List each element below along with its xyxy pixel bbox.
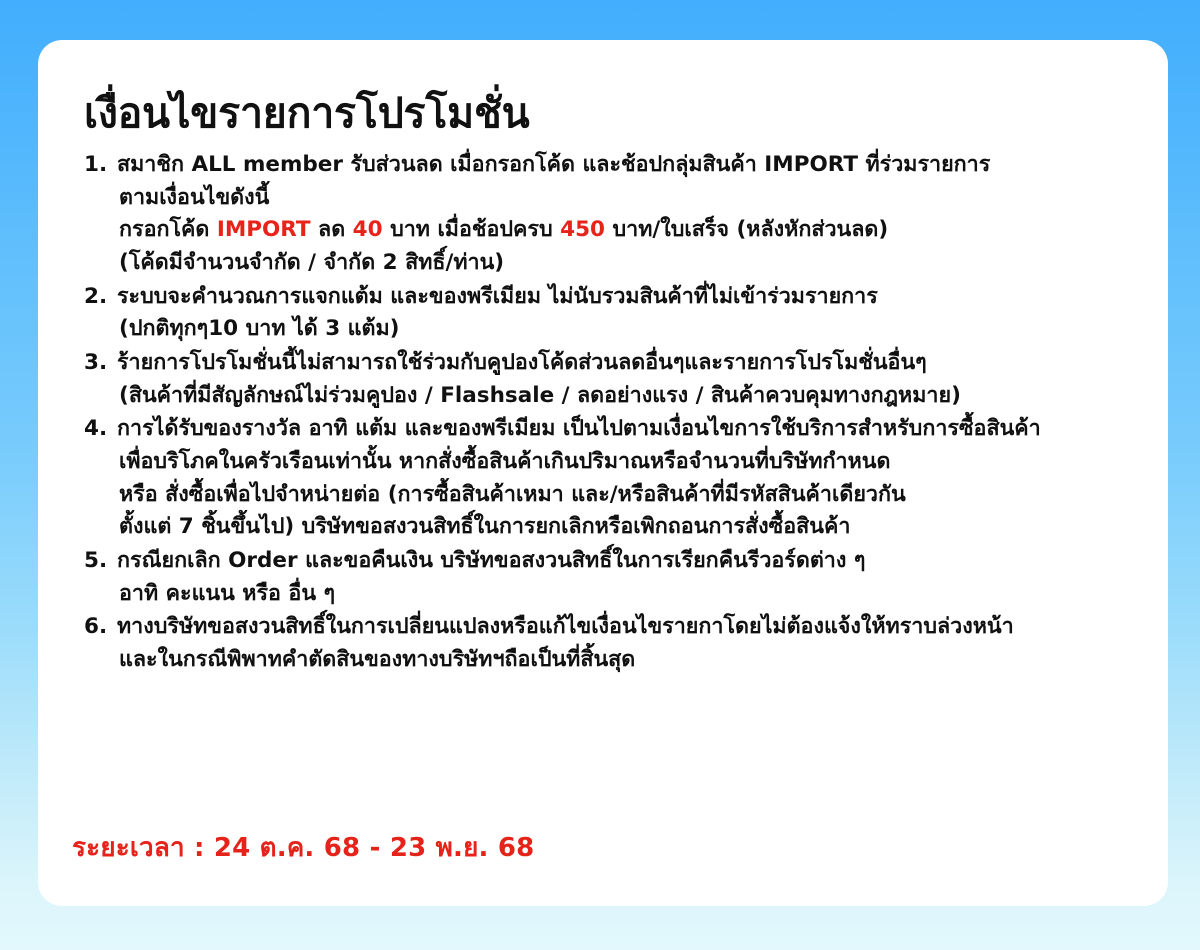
highlighted-value: 450 <box>560 217 605 242</box>
term-number: 5. <box>84 545 117 578</box>
term-line: อาทิ คะแนน หรือ อื่น ๆ <box>117 578 1122 611</box>
term-item: 4.การได้รับของรางวัล อาทิ แต้ม และของพรี… <box>84 413 1122 544</box>
term-line: ตามเงื่อนไขดังนี้ <box>117 182 1122 215</box>
term-line: (สินค้าที่มีสัญลักษณ์ไม่ร่วมคูปอง / Flas… <box>117 380 1122 413</box>
term-number: 3. <box>84 347 117 380</box>
term-line: (โค้ดมีจำนวนจำกัด / จำกัด 2 สิทธิ์/ท่าน) <box>117 247 1122 280</box>
term-item: 6.ทางบริษัทขอสงวนสิทธิ์ในการเปลี่ยนแปลงห… <box>84 611 1122 676</box>
promotion-terms-page: เงื่อนไขรายการโปรโมชั่น 1.สมาชิก ALL mem… <box>0 0 1200 950</box>
term-line: ร้ายการโปรโมชั่นนี้ไม่สามารถใช้ร่วมกับคู… <box>117 347 1122 380</box>
term-text: บาท/ใบเสร็จ (หลังหักส่วนลด) <box>605 217 888 242</box>
term-text-block: การได้รับของรางวัล อาทิ แต้ม และของพรีเม… <box>117 413 1122 544</box>
term-item: 5.กรณียกเลิก Order และขอคืนเงิน บริษัทขอ… <box>84 545 1122 610</box>
term-item: 3.ร้ายการโปรโมชั่นนี้ไม่สามารถใช้ร่วมกับ… <box>84 347 1122 412</box>
term-line: กรอกโค้ด IMPORT ลด 40 บาท เมื่อช้อปครบ 4… <box>117 214 1122 247</box>
page-title: เงื่อนไขรายการโปรโมชั่น <box>84 92 1122 135</box>
term-line: ระบบจะคำนวณการแจกแต้ม และของพรีเมียม ไม่… <box>117 281 1122 314</box>
term-item: 2.ระบบจะคำนวณการแจกแต้ม และของพรีเมียม ไ… <box>84 281 1122 346</box>
highlighted-value: 40 <box>353 217 383 242</box>
terms-list: 1.สมาชิก ALL member รับส่วนลด เมื่อกรอกโ… <box>84 149 1122 677</box>
term-line: ทางบริษัทขอสงวนสิทธิ์ในการเปลี่ยนแปลงหรื… <box>117 611 1122 644</box>
term-line: (ปกติทุกๆ10 บาท ได้ 3 แต้ม) <box>117 313 1122 346</box>
term-line: เพื่อบริโภคในครัวเรือนเท่านั้น หากสั่งซื… <box>117 446 1122 479</box>
term-line: การได้รับของรางวัล อาทิ แต้ม และของพรีเม… <box>117 413 1122 446</box>
term-text-block: กรณียกเลิก Order และขอคืนเงิน บริษัทขอสง… <box>117 545 1122 610</box>
promotion-period-text: ระยะเวลา : 24 ต.ค. 68 - 23 พ.ย. 68 <box>72 832 534 866</box>
term-line: และในกรณีพิพาทคำตัดสินของทางบริษัทฯถือเป… <box>117 644 1122 677</box>
term-text-block: ระบบจะคำนวณการแจกแต้ม และของพรีเมียม ไม่… <box>117 281 1122 346</box>
term-number: 4. <box>84 413 117 446</box>
term-line: ตั้งแต่ 7 ชิ้นขึ้นไป) บริษัทขอสงวนสิทธิ์… <box>117 511 1122 544</box>
terms-card: เงื่อนไขรายการโปรโมชั่น 1.สมาชิก ALL mem… <box>38 40 1168 906</box>
term-text: กรอกโค้ด <box>119 217 217 242</box>
term-text-block: สมาชิก ALL member รับส่วนลด เมื่อกรอกโค้… <box>117 149 1122 280</box>
term-number: 2. <box>84 281 117 314</box>
term-line: กรณียกเลิก Order และขอคืนเงิน บริษัทขอสง… <box>117 545 1122 578</box>
highlighted-value: IMPORT <box>217 217 311 242</box>
term-text-block: ร้ายการโปรโมชั่นนี้ไม่สามารถใช้ร่วมกับคู… <box>117 347 1122 412</box>
term-text: ลด <box>311 217 353 242</box>
term-line: สมาชิก ALL member รับส่วนลด เมื่อกรอกโค้… <box>117 149 1122 182</box>
term-number: 1. <box>84 149 117 182</box>
term-number: 6. <box>84 611 117 644</box>
term-text: บาท เมื่อช้อปครบ <box>383 217 561 242</box>
term-text-block: ทางบริษัทขอสงวนสิทธิ์ในการเปลี่ยนแปลงหรื… <box>117 611 1122 676</box>
term-line: หรือ สั่งซื้อเพื่อไปจำหน่ายต่อ (การซื้อส… <box>117 479 1122 512</box>
term-item: 1.สมาชิก ALL member รับส่วนลด เมื่อกรอกโ… <box>84 149 1122 280</box>
